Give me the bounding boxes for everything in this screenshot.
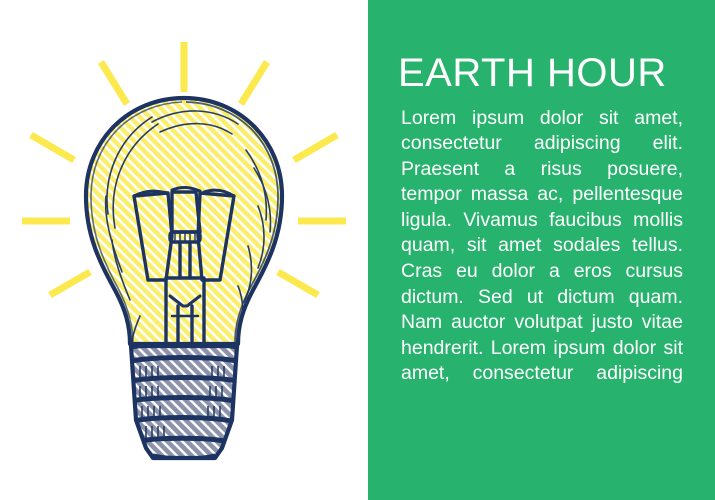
text-panel: EARTH HOUR Lorem ipsum dolor sit amet, c… [368,0,715,500]
poster-root: EARTH HOUR Lorem ipsum dolor sit amet, c… [0,0,715,500]
ray-top-right [241,62,267,104]
page-title: EARTH HOUR [398,49,688,97]
bulb-base-group [126,344,242,458]
light-bulb-icon [0,0,368,500]
ray-left-lower [50,272,90,295]
ray-right-lower [278,272,318,295]
ray-top-left [101,62,127,104]
ray-left-upper [31,135,74,160]
illustration-pane [0,0,368,500]
body-paragraph: Lorem ipsum dolor sit amet, consectetur … [401,106,683,413]
ray-right-upper [294,135,337,160]
